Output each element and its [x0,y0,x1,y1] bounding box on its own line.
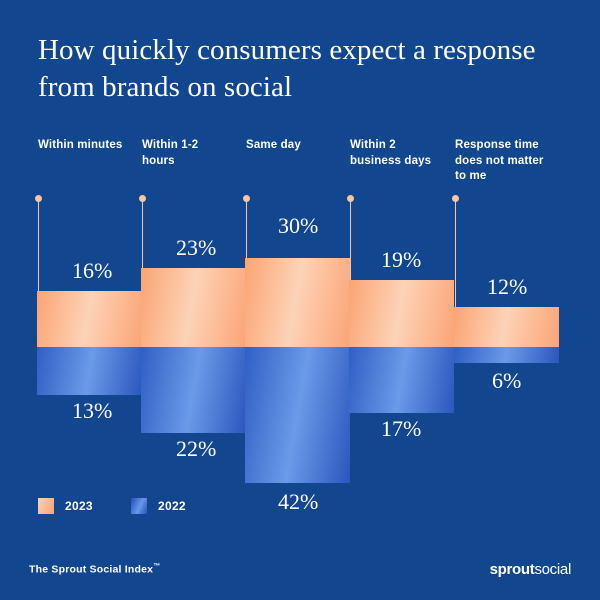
bar-2022-4[interactable] [454,347,559,363]
value-label-2022-1: 22% [176,436,216,462]
bar-2023-1[interactable] [141,268,246,347]
stem-line-2 [246,199,247,258]
footer-source-text: The Sprout Social Index [29,564,153,576]
bar-2023-0[interactable] [37,291,142,347]
legend-swatch-2023-icon [38,498,54,514]
stem-line-0 [38,199,39,291]
value-label-2023-1: 23% [176,235,216,261]
value-label-2022-3: 17% [381,416,421,442]
value-label-2023-2: 30% [278,213,318,239]
stem-line-3 [350,199,351,280]
footer-source-label: The Sprout Social Index™ [29,563,160,576]
category-label-1: Within 1-2 hours [142,138,234,169]
bar-2022-3[interactable] [349,347,454,413]
legend-item-2022[interactable]: 2022 [131,498,186,514]
legend-item-2023[interactable]: 2023 [38,498,93,514]
logo-sprout-text: sprout [490,561,535,578]
legend-swatch-2022-icon [131,498,147,514]
legend-label-2022: 2022 [158,499,186,513]
trademark-icon: ™ [153,563,160,570]
category-label-0: Within minutes [38,138,126,154]
category-label-3: Within 2 business days [350,138,436,169]
value-label-2023-4: 12% [487,274,527,300]
legend-label-2023: 2023 [65,499,93,513]
bar-2022-0[interactable] [37,347,142,395]
value-label-2022-2: 42% [278,489,318,515]
bar-2023-3[interactable] [349,280,454,347]
logo-social-text: social [534,561,571,578]
category-label-4: Response time does not matter to me [455,138,555,185]
value-label-2022-0: 13% [72,398,112,424]
value-label-2023-3: 19% [381,247,421,273]
infographic-root: How quickly consumers expect a response … [0,0,600,600]
bar-2022-1[interactable] [141,347,246,433]
bar-2023-2[interactable] [245,258,350,347]
stem-line-4 [455,199,456,307]
value-label-2023-0: 16% [72,258,112,284]
value-label-2022-4: 6% [492,368,521,394]
category-label-2: Same day [246,138,338,154]
stem-line-1 [142,199,143,268]
sprout-social-logo[interactable]: sproutsocial [490,561,571,578]
bar-2023-4[interactable] [454,307,559,347]
bar-2022-2[interactable] [245,347,350,483]
